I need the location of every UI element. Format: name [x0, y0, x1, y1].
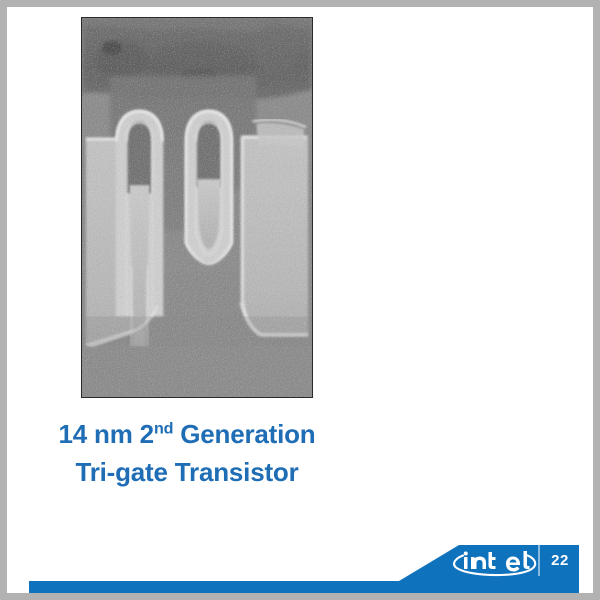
caption-ordinal-suffix: nd	[154, 419, 173, 437]
slide-caption: 14 nm 2nd Generation Tri-gate Transistor	[7, 415, 367, 491]
caption-line-1: 14 nm 2nd Generation	[7, 415, 367, 453]
slide-canvas: TEM cross-section micrograph of 14 nm 2n…	[7, 7, 593, 593]
footer-divider	[538, 545, 540, 576]
caption-line-1-pre: 14 nm 2	[59, 419, 154, 449]
intel-logo: intel	[451, 547, 537, 577]
tem-micrograph-image: TEM cross-section micrograph of 14 nm 2n…	[81, 17, 313, 398]
tem-micrograph-figure: TEM cross-section micrograph of 14 nm 2n…	[81, 17, 313, 398]
slide-frame: TEM cross-section micrograph of 14 nm 2n…	[0, 0, 600, 600]
slide-footer: intel	[7, 523, 593, 593]
page-number: 22	[543, 549, 577, 573]
caption-line-1-post: Generation	[173, 419, 315, 449]
caption-line-2: Tri-gate Transistor	[7, 453, 367, 491]
